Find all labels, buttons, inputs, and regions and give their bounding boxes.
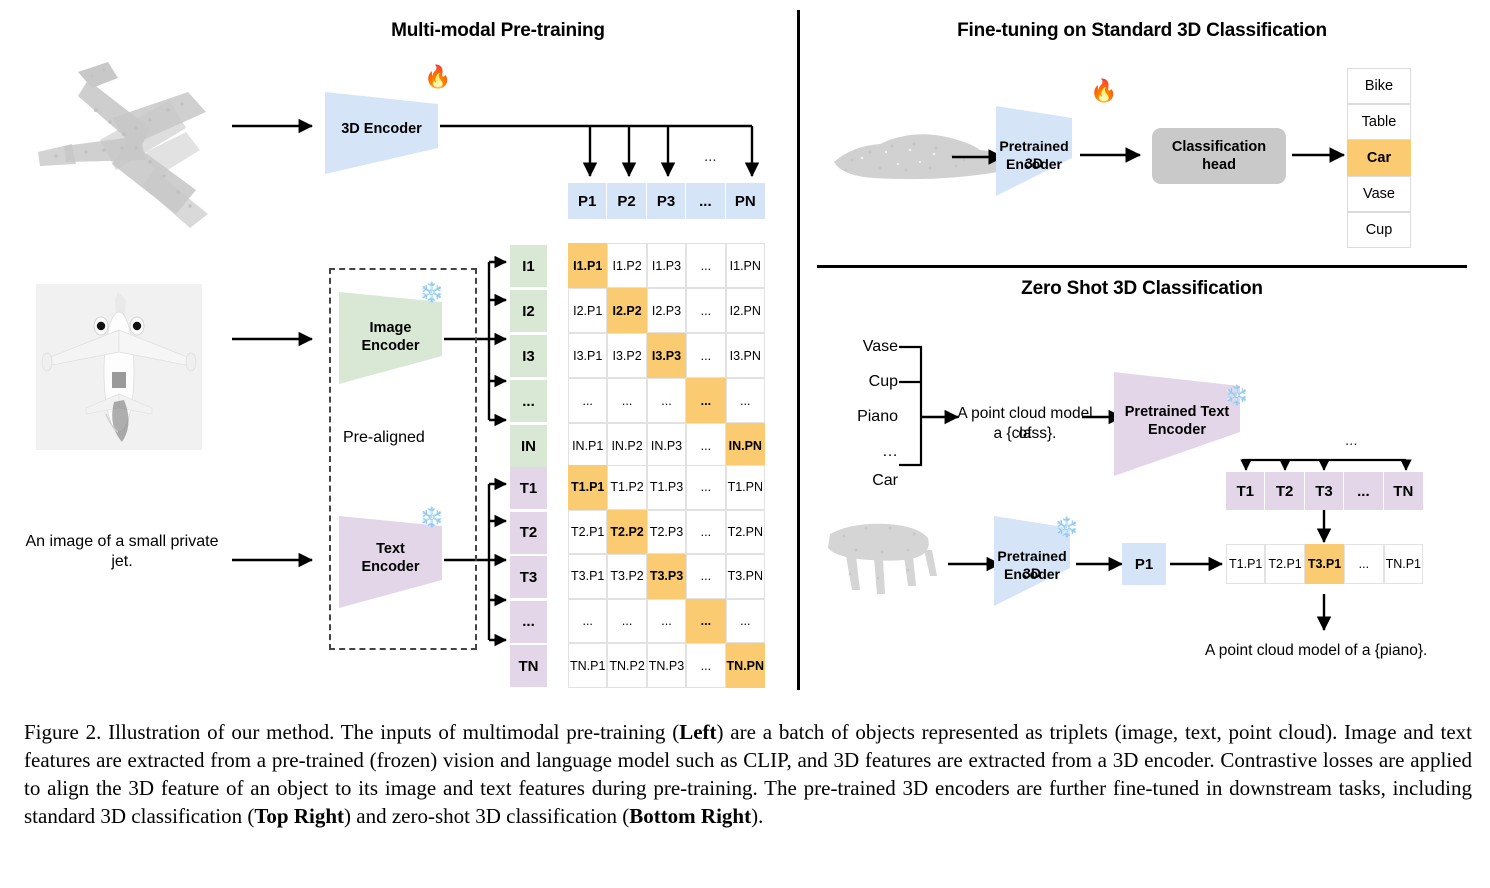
p-feature-cell: P1: [568, 183, 607, 219]
zeroshot-p1-box: P1: [1122, 543, 1166, 585]
pretrained-text-encoder-label-line2: Encoder: [1114, 422, 1240, 439]
text-matrix-cell: ...: [568, 599, 607, 644]
zeroshot-class-label: Vase: [836, 338, 898, 358]
panel-horizontal-divider: [817, 265, 1467, 268]
prealigned-label: Pre-aligned: [343, 429, 425, 447]
image-matrix-cell: I1.P3: [647, 243, 686, 288]
zeroshot-score-cell: ...: [1344, 544, 1383, 584]
text-matrix-cell: T2.PN: [726, 510, 765, 555]
text-feature-cell: TN: [510, 645, 547, 687]
image-feature-cell: IN: [510, 425, 547, 467]
zeroshot-score-cell: T1.P1: [1226, 544, 1265, 584]
text-matrix-cell: T2.P3: [647, 510, 686, 555]
image-matrix-cell: I2.P3: [647, 288, 686, 333]
text-matrix-cell: ...: [686, 643, 725, 688]
classification-head-label-line1: Classification: [1172, 138, 1266, 156]
text-matrix-cell: ...: [686, 554, 725, 599]
image-matrix-cell: ...: [686, 378, 725, 423]
image-matrix-cell: ...: [607, 378, 646, 423]
image-matrix-cell: IN.P2: [607, 423, 646, 468]
zeroshot-class-label: Piano: [836, 408, 898, 428]
zeroshot-class-label: …: [836, 443, 898, 463]
image-matrix-cell: I3.P2: [607, 333, 646, 378]
encoder-3d-label: 3D Encoder: [325, 121, 438, 138]
classification-head-label-line2: head: [1172, 156, 1266, 174]
pretrained-3d-encoder-label-line2-bottom: Encoder: [994, 566, 1070, 583]
text-matrix-cell: T1.P1: [568, 465, 607, 510]
text-matrix-cell: TN.P3: [647, 643, 686, 688]
jet-image-content: [42, 292, 196, 442]
class-row: Car: [1347, 140, 1411, 176]
text-matrix-cell: T3.P1: [568, 554, 607, 599]
topright-panel-title: Fine-tuning on Standard 3D Classificatio…: [817, 20, 1467, 42]
image-matrix-cell: ...: [686, 423, 725, 468]
image-encoder-label-line2: Encoder: [339, 338, 442, 355]
zeroshot-text-feature-cell: ...: [1344, 472, 1383, 510]
image-matrix-cell: I2.PN: [726, 288, 765, 333]
zeroshot-text-feature-cell: T1: [1226, 472, 1265, 510]
p-feature-cell: P3: [647, 183, 686, 219]
text-matrix-cell: T3.P3: [647, 554, 686, 599]
image-matrix-cell: I1.P2: [607, 243, 646, 288]
p-row-ellipsis-above: ...: [704, 148, 717, 165]
snowflake-icon-text-encoder-zs: ❄️: [1224, 386, 1249, 406]
text-matrix-cell: T1.P2: [607, 465, 646, 510]
caption-prefix: Figure 2. Illustration of our method. Th…: [24, 720, 679, 744]
zeroshot-text-feature-cell: T3: [1305, 472, 1344, 510]
image-feature-cell: I3: [510, 335, 547, 377]
image-matrix-cell: IN.P1: [568, 423, 607, 468]
text-matrix-cell: T1.PN: [726, 465, 765, 510]
image-matrix-cell: ...: [726, 378, 765, 423]
caption-t2: ) and zero-shot 3D classification (: [344, 804, 629, 828]
panel-vertical-divider: [797, 10, 800, 690]
image-matrix-cell: IN.P3: [647, 423, 686, 468]
left-panel-title: Multi-modal Pre-training: [288, 20, 708, 42]
zeroshot-score-cell: T3.P1: [1305, 544, 1344, 584]
zeroshot-text-feature-cell: TN: [1384, 472, 1423, 510]
text-feature-cell: T3: [510, 556, 547, 598]
text-matrix-cell: T2.P1: [568, 510, 607, 555]
image-matrix-cell: ...: [686, 288, 725, 333]
prompt-template-line2: a {class}.: [952, 424, 1098, 444]
zeroshot-trow-ellipsis-above: ...: [1345, 432, 1358, 449]
zeroshot-result-text: A point cloud model of a {piano}.: [1205, 642, 1427, 660]
figure-caption: Figure 2. Illustration of our method. Th…: [24, 718, 1472, 831]
image-matrix-cell: I3.P1: [568, 333, 607, 378]
zeroshot-score-cell: TN.P1: [1384, 544, 1423, 584]
class-row: Table: [1347, 104, 1411, 140]
zeroshot-score-cell: T2.P1: [1265, 544, 1304, 584]
zeroshot-class-label: Car: [836, 472, 898, 492]
zeroshot-text-feature-cell: T2: [1265, 472, 1304, 510]
image-encoder-label-line1: Image: [339, 320, 442, 337]
pretrained-text-encoder-label-line1: Pretrained Text: [1114, 404, 1240, 421]
image-feature-cell: I1: [510, 245, 547, 287]
text-matrix-cell: ...: [686, 510, 725, 555]
classification-head-box: Classification head: [1152, 128, 1286, 184]
caption-bold-topright: Top Right: [254, 804, 344, 828]
snowflake-icon-3d-encoder-zs: ❄️: [1054, 518, 1079, 538]
image-matrix-cell: ...: [568, 378, 607, 423]
text-feature-cell: T2: [510, 512, 547, 554]
text-matrix-cell: T3.P2: [607, 554, 646, 599]
text-feature-cell: T1: [510, 467, 547, 509]
snowflake-icon-image-encoder: ❄️: [419, 283, 444, 303]
p-feature-cell: ...: [686, 183, 725, 219]
image-matrix-cell: IN.PN: [726, 423, 765, 468]
text-matrix-cell: T3.PN: [726, 554, 765, 599]
text-matrix-cell: TN.PN: [726, 643, 765, 688]
bottomright-panel-title: Zero Shot 3D Classification: [817, 278, 1467, 300]
text-matrix-cell: T1.P3: [647, 465, 686, 510]
caption-bold-left: Left: [679, 720, 716, 744]
text-matrix-cell: ...: [686, 599, 725, 644]
class-row: Vase: [1347, 176, 1411, 212]
image-matrix-cell: I3.PN: [726, 333, 765, 378]
airplane-point-cloud: [38, 62, 208, 228]
text-input-caption: An image of a small private jet.: [22, 532, 222, 573]
image-matrix-cell: I3.P3: [647, 333, 686, 378]
piano-point-cloud: [828, 524, 937, 594]
text-matrix-cell: TN.P2: [607, 643, 646, 688]
zeroshot-class-label: Cup: [836, 373, 898, 393]
car-point-cloud: [834, 134, 1008, 179]
class-list-bracket: [899, 347, 921, 465]
image-feature-cell: ...: [510, 380, 547, 422]
text-matrix-cell: ...: [647, 599, 686, 644]
pretrained-3d-encoder-label-line2-top: Encoder: [996, 156, 1072, 173]
fire-icon-finetune: 🔥: [1090, 80, 1117, 102]
text-encoder-label-line1: Text: [339, 541, 442, 558]
text-matrix-cell: ...: [726, 599, 765, 644]
jet-image-frame: [36, 284, 202, 450]
text-matrix-cell: ...: [686, 465, 725, 510]
text-feature-cell: ...: [510, 601, 547, 643]
caption-bold-bottomright: Bottom Right: [629, 804, 751, 828]
class-row: Bike: [1347, 68, 1411, 104]
fire-icon: 🔥: [424, 66, 451, 88]
class-row: Cup: [1347, 212, 1411, 248]
image-matrix-cell: I1.PN: [726, 243, 765, 288]
snowflake-icon-text-encoder: ❄️: [419, 508, 444, 528]
image-matrix-cell: I2.P1: [568, 288, 607, 333]
image-feature-cell: I2: [510, 290, 547, 332]
image-matrix-cell: ...: [686, 243, 725, 288]
p-feature-cell: PN: [726, 183, 765, 219]
image-matrix-cell: ...: [686, 333, 725, 378]
caption-t3: ).: [751, 804, 763, 828]
image-matrix-cell: ...: [647, 378, 686, 423]
text-matrix-cell: ...: [607, 599, 646, 644]
p-feature-cell: P2: [607, 183, 646, 219]
figure-canvas: Multi-modal Pre-training An image of a s…: [0, 0, 1490, 710]
text-matrix-cell: T2.P2: [607, 510, 646, 555]
image-matrix-cell: I1.P1: [568, 243, 607, 288]
text-encoder-label-line2: Encoder: [339, 559, 442, 576]
text-matrix-cell: TN.P1: [568, 643, 607, 688]
image-matrix-cell: I2.P2: [607, 288, 646, 333]
